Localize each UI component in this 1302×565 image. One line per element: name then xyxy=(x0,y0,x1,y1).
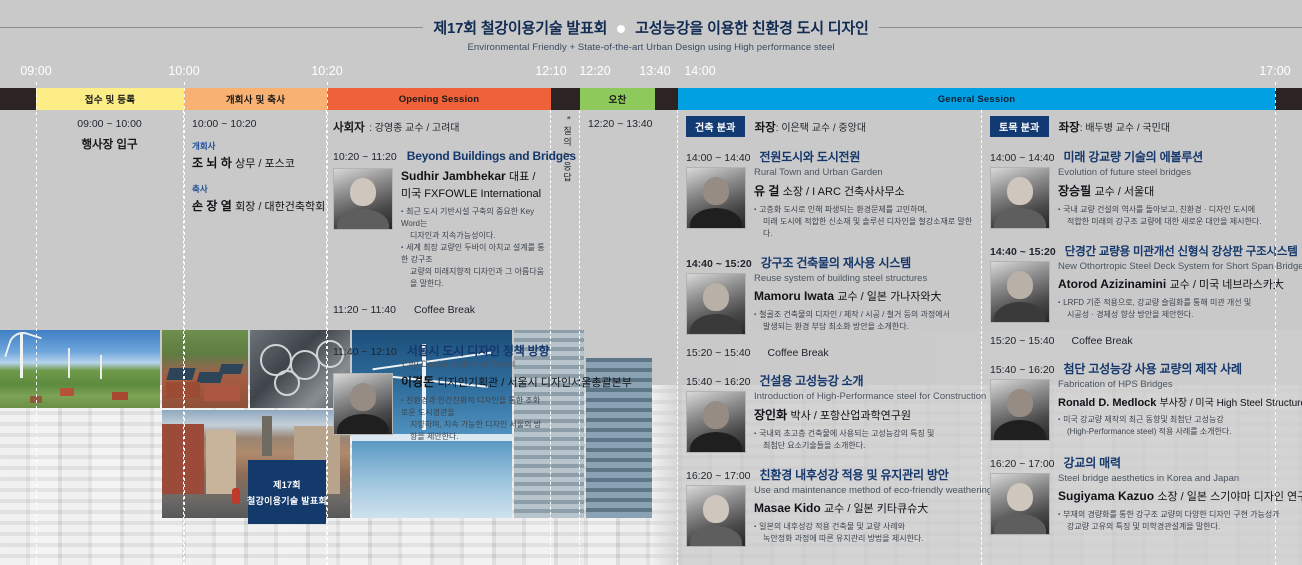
qa-vertical-note: * 질의 / 응답 xyxy=(561,116,574,184)
civil-talk-1-title: 단경간 교량용 미관개선 신형식 강상판 구조시스템 xyxy=(1065,243,1298,259)
speaker-name: Atorod Azizinamini xyxy=(1058,277,1166,291)
desc-line: 적합한 미래의 강구조 교량에 대한 새로운 대안을 제시한다. xyxy=(1067,217,1261,226)
arch-talk-3[interactable]: 15:40 ~ 16:20 건설용 고성능강 소개 Introduction o… xyxy=(686,372,975,453)
speaker-name: 장인화 xyxy=(754,408,787,422)
speaker-name: Ronald D. Medlock xyxy=(1058,397,1156,409)
arch-chair-row: 건축 분과 좌장: 이은택 교수 / 중앙대 xyxy=(686,116,975,137)
arch-talk-1[interactable]: 14:40 ~ 15:20 강구조 건축물의 재사용 시스템 Reuse sys… xyxy=(686,254,975,335)
time-ruler: 09:00 10:00 10:20 12:10 12:20 13:40 14:0… xyxy=(0,62,1302,86)
speaker-portrait xyxy=(686,485,746,547)
civil-talk-2-title: Coffee Break xyxy=(1072,335,1133,347)
civil-talk-1-speaker: Atorod Azizinamini 교수 / 미국 네브라스카大 xyxy=(1058,276,1298,292)
speaker-role: 교수 / 일본 가나자와大 xyxy=(837,291,941,303)
column-track-civil: 토목 분과 좌장: 배두병 교수 / 국민대 14:00 ~ 14:40 미래 … xyxy=(982,110,1302,565)
ceremony-time: 10:00 ~ 10:20 xyxy=(192,118,320,130)
speaker-name: 장승필 xyxy=(1058,184,1091,198)
ceremony-item-0: 개회사 조 뇌 하 상무 / 포스코 xyxy=(192,140,320,171)
speaker-portrait xyxy=(990,167,1050,229)
desc-line: 국내 교량 건설의 역사를 돌아보고, 친환경 · 디자인 도시에 xyxy=(1063,205,1255,214)
civil-talk-4-speaker: Sugiyama Kazuo 소장 / 일본 스기야마 디자인 연구소 xyxy=(1058,488,1298,504)
opening-talk-2-title-en: City Design policy of Seoul xyxy=(402,359,546,370)
arch-talk-1-title-en: Reuse system of building steel structure… xyxy=(754,273,975,284)
arch-talk-3-title: 건설용 고성능강 소개 xyxy=(760,372,864,389)
desc-line: 친환경과 인간친화적 디자인을 통한 조화로운 도시경관을 xyxy=(401,396,540,417)
opening-talk-1-break: 11:20 ~ 11:40 Coffee Break xyxy=(333,304,546,316)
ceremony-role-1: 회장 / 대한건축학회 xyxy=(235,201,325,213)
desc-line: 세계 최장 교량인 두바이 아치교 설계를 통한 강구조 xyxy=(401,243,545,264)
desc-line: 미국 강교량 제작의 최근 동향및 최첨단 고성능강 xyxy=(1063,415,1224,424)
speaker-role: 교수 / 미국 네브라스카大 xyxy=(1170,279,1284,291)
speaker-role: 소장 / 일본 스기야마 디자인 연구소 xyxy=(1157,491,1302,503)
opening-moderator-value: : 강영종 교수 / 고려대 xyxy=(369,123,459,134)
ceremony-role-0: 상무 / 포스코 xyxy=(235,158,295,170)
desc-line: 녹안정화 과정에 따른 유지관리 방법을 제시한다. xyxy=(763,534,924,543)
civil-talk-0-title-en: Evolution of future steel bridges xyxy=(1058,167,1298,178)
speaker-portrait xyxy=(990,379,1050,441)
arch-talk-3-title-en: Introduction of High-Performance steel f… xyxy=(754,391,975,402)
opening-talk-2-desc: 친환경과 인간친화적 디자인을 통한 조화로운 도시경관을 지향하며, 지속 가… xyxy=(401,395,546,443)
arch-talk-2-title: Coffee Break xyxy=(768,347,829,359)
time-tick-0900: 09:00 xyxy=(20,64,51,78)
opening-talk-0-desc: 최근 도시 기반시설 구축의 중요한 Key Word는 디자인과 지속가능성이… xyxy=(401,206,546,290)
speaker-name: Sugiyama Kazuo xyxy=(1058,489,1154,503)
civil-track-tag: 토목 분과 xyxy=(990,116,1049,137)
opening-talk-1-title: Coffee Break xyxy=(414,304,475,316)
column-qa: * 질의 / 응답 xyxy=(551,110,580,565)
title-rule-right xyxy=(879,27,1302,28)
opening-talk-2-title: 서울시 도시 디자인 정책 방향 xyxy=(407,342,550,359)
arch-talk-0[interactable]: 14:00 ~ 14:40 전원도시와 도시전원 Rural Town and … xyxy=(686,148,975,240)
civil-talk-4-title: 강교의 매력 xyxy=(1064,454,1121,471)
civil-talk-3[interactable]: 15:40 ~ 16:20 첨단 고성능강 사용 교량의 제작 사례 Fabri… xyxy=(990,360,1298,441)
time-tick-1700: 17:00 xyxy=(1259,64,1290,78)
civil-talk-3-title: 첨단 고성능강 사용 교량의 제작 사례 xyxy=(1064,360,1242,377)
gridline-1700 xyxy=(1275,82,1276,565)
desc-line: 최근 도시 기반시설 구축의 중요한 Key Word는 xyxy=(401,207,534,228)
page-subtitle: Environmental Friendly + State-of-the-ar… xyxy=(0,42,1302,53)
ceremony-speaker-1: 손 장 열 xyxy=(192,199,232,213)
speaker-name: Mamoru Iwata xyxy=(754,289,834,303)
title-second-text: 고성능강을 이용한 친환경 도시 디자인 xyxy=(635,20,868,37)
arch-talk-1-title: 강구조 건축물의 재사용 시스템 xyxy=(761,254,911,271)
opening-talk-2-time: 11:40 ~ 12:10 xyxy=(333,346,397,358)
speaker-name: 이경돈 xyxy=(401,375,434,389)
arch-talk-3-time: 15:40 ~ 16:20 xyxy=(686,376,751,388)
time-tick-1210: 12:10 xyxy=(535,64,566,78)
civil-talk-0-title: 미래 강교량 기술의 에볼루션 xyxy=(1064,148,1203,165)
ceremony-item-1-label: 축사 xyxy=(192,183,320,195)
session-bar-lunch[interactable]: 오찬 xyxy=(580,88,655,110)
civil-chair-label: 좌장 xyxy=(1059,122,1080,134)
gridline-1000 xyxy=(184,82,185,565)
session-bar-registration[interactable]: 접수 및 등록 xyxy=(36,88,184,110)
column-lunch: 12:20 ~ 13:40 xyxy=(580,110,678,565)
session-bar-ceremony[interactable]: 개회사 및 축사 xyxy=(184,88,327,110)
arch-talk-4-title-en: Use and maintenance method of eco-friend… xyxy=(754,485,975,496)
civil-talk-4-time: 16:20 ~ 17:00 xyxy=(990,458,1055,470)
registration-time: 09:00 ~ 10:00 xyxy=(42,118,177,130)
speaker-name: Sudhir Jambhekar xyxy=(401,169,506,183)
opening-talk-0-affiliation: 미국 FXFOWLE International xyxy=(401,185,546,201)
time-tick-1020: 10:20 xyxy=(311,64,342,78)
civil-talk-0-speaker: 장승필 교수 / 서울대 xyxy=(1058,182,1298,199)
column-opening-ceremony: 10:00 ~ 10:20 개회사 조 뇌 하 상무 / 포스코 축사 손 장 … xyxy=(184,110,327,565)
arch-talk-2-break: 15:20 ~ 15:40 Coffee Break xyxy=(686,347,975,359)
time-tick-1340: 13:40 xyxy=(639,64,670,78)
civil-talk-1[interactable]: 14:40 ~ 15:20 단경간 교량용 미관개선 신형식 강상판 구조시스템… xyxy=(990,243,1298,323)
column-track-architecture: 건축 분과 좌장: 이은택 교수 / 중앙대 14:00 ~ 14:40 전원도… xyxy=(678,110,982,565)
opening-talk-0-time: 10:20 ~ 11:20 xyxy=(333,151,397,163)
desc-line: 교량의 미래지향적 디자인과 그 아름다움을 말한다. xyxy=(410,267,544,288)
speaker-portrait xyxy=(990,261,1050,323)
ceremony-item-1: 축사 손 장 열 회장 / 대한건축학회 xyxy=(192,183,320,214)
civil-talk-2-break: 15:20 ~ 15:40 Coffee Break xyxy=(990,335,1298,347)
ceremony-item-1-name: 손 장 열 회장 / 대한건축학회 xyxy=(192,197,320,214)
civil-talk-0[interactable]: 14:00 ~ 14:40 미래 강교량 기술의 에볼루션 Evolution … xyxy=(990,148,1298,229)
page-title: 제17회 철강이용기술 발표회 고성능강을 이용한 친환경 도시 디자인 xyxy=(433,17,868,38)
speaker-portrait xyxy=(990,473,1050,535)
speaker-portrait xyxy=(333,168,393,230)
arch-talk-0-time: 14:00 ~ 14:40 xyxy=(686,152,751,164)
desc-line: 고층화 도시로 인해 파생되는 환경문제를 고민하며, xyxy=(759,205,927,214)
arch-talk-4-time: 16:20 ~ 17:00 xyxy=(686,470,751,482)
opening-talk-2-speaker: 이경돈 디자인기획관 / 서울시 디자인서울총괄본부 xyxy=(401,373,546,390)
arch-talk-3-speaker: 장인화 박사 / 포항산업과학연구원 xyxy=(754,406,975,423)
column-registration: 09:00 ~ 10:00 행사장 입구 xyxy=(36,110,184,565)
schedule-columns: 09:00 ~ 10:00 행사장 입구 10:00 ~ 10:20 개회사 조… xyxy=(0,110,1302,565)
civil-talk-2-time: 15:20 ~ 15:40 xyxy=(990,335,1055,347)
civil-talk-3-title-en: Fabrication of HPS Bridges xyxy=(1058,379,1298,390)
desc-line: 강교량 고유의 특징 및 미학경관설계을 말한다. xyxy=(1067,522,1220,531)
speaker-portrait xyxy=(686,273,746,335)
arch-chair-label: 좌장 xyxy=(755,122,776,134)
desc-line: 미래 도시에 적합한 신소재 및 솔루션 디자인을 철강소재로 말한다. xyxy=(763,217,972,238)
speaker-role: 대표 / xyxy=(509,171,535,183)
arch-talk-0-speaker: 유 걸 소장 / I ARC 건축사사무소 xyxy=(754,182,975,199)
arch-talk-4-title: 친환경 내후성강 적용 및 유지관리 방안 xyxy=(760,466,949,483)
column-opening-session: 사회자 : 강영종 교수 / 고려대 10:20 ~ 11:20 Beyond … xyxy=(327,110,551,565)
arch-talk-1-time: 14:40 ~ 15:20 xyxy=(686,258,752,270)
speaker-role: 박사 / 포항산업과학연구원 xyxy=(790,410,911,422)
lunch-time: 12:20 ~ 13:40 xyxy=(588,118,673,130)
title-main-text: 제17회 철강이용기술 발표회 xyxy=(433,20,607,37)
arch-talk-0-desc: 고층화 도시로 인해 파생되는 환경문제를 고민하며, 미래 도시에 적합한 신… xyxy=(754,204,975,240)
civil-talk-4[interactable]: 16:20 ~ 17:00 강교의 매력 Steel bridge aesthe… xyxy=(990,454,1298,535)
desc-line: 지향하며, 지속 가능한 디자인 서울의 방향을 제안한다. xyxy=(410,420,541,441)
desc-line: 디자인과 지속가능성이다. xyxy=(410,231,495,240)
arch-talk-4[interactable]: 16:20 ~ 17:00 친환경 내후성강 적용 및 유지관리 방안 Use … xyxy=(686,466,975,547)
poster-header: 제17회 철강이용기술 발표회 고성능강을 이용한 친환경 도시 디자인 Env… xyxy=(0,0,1302,60)
speaker-name: 유 걸 xyxy=(754,184,779,198)
opening-talk-1-time: 11:20 ~ 11:40 xyxy=(333,304,396,316)
civil-talk-3-time: 15:40 ~ 16:20 xyxy=(990,364,1055,376)
ceremony-item-0-name: 조 뇌 하 상무 / 포스코 xyxy=(192,154,320,171)
civil-talk-0-desc: 국내 교량 건설의 역사를 돌아보고, 친환경 · 디자인 도시에 적합한 미래… xyxy=(1058,204,1298,228)
arch-talk-0-title-en: Rural Town and Urban Garden xyxy=(754,167,975,178)
arch-talk-3-desc: 국내외 초고층 건축물에 사용되는 고성능강의 특징 및 최첨단 요소기술들을 … xyxy=(754,428,975,452)
desc-line: 최첨단 요소기술들을 소개한다. xyxy=(763,441,865,450)
opening-talk-0-speaker: Sudhir Jambhekar 대표 / xyxy=(401,168,546,184)
speaker-role: 교수 / 일본 키타큐슈大 xyxy=(824,503,928,515)
civil-talk-1-title-en: New Othortropic Steel Deck System for Sh… xyxy=(1058,261,1298,272)
session-bar-general[interactable]: General Session xyxy=(678,88,1275,110)
speaker-role: 부사장 / 미국 High Steel Structures, Inc. xyxy=(1159,398,1302,409)
time-tick-1220: 12:20 xyxy=(579,64,610,78)
speaker-role: 소장 / I ARC 건축사사무소 xyxy=(783,186,905,198)
speaker-portrait xyxy=(686,391,746,453)
desc-line: (High-Performance steel) 적용 사례를 소개한다. xyxy=(1067,427,1232,436)
desc-line: LRFD 기준 적용으로, 강교량 슬림화를 통해 미관 개선 및 xyxy=(1063,298,1251,307)
arch-talk-4-speaker: Masae Kido 교수 / 일본 키타큐슈大 xyxy=(754,500,975,516)
gridline-1020 xyxy=(327,82,328,565)
poster-root: 제17회 철강이용기술 발표회 제17회 철강이용기술 발표회 고성능강을 이용… xyxy=(0,0,1302,565)
arch-talk-0-title: 전원도시와 도시전원 xyxy=(760,148,861,165)
arch-chair-value: : 이은택 교수 / 중앙대 xyxy=(776,123,866,134)
ceremony-item-0-label: 개회사 xyxy=(192,140,320,152)
arch-talk-4-desc: 일본의 내후성강 적용 건축물 및 교량 사례와 녹안정화 과정에 따른 유지관… xyxy=(754,521,975,545)
civil-talk-3-speaker: Ronald D. Medlock 부사장 / 미국 High Steel St… xyxy=(1058,394,1298,409)
arch-track-tag: 건축 분과 xyxy=(686,116,745,137)
civil-talk-4-title-en: Steel bridge aesthetics in Korea and Jap… xyxy=(1058,473,1298,484)
gridline-0900 xyxy=(36,82,37,565)
title-rule-left xyxy=(0,27,423,28)
time-tick-1000: 10:00 xyxy=(168,64,199,78)
civil-talk-1-desc: LRFD 기준 적용으로, 강교량 슬림화를 통해 미관 개선 및 시공성 · … xyxy=(1058,297,1298,321)
registration-place: 행사장 입구 xyxy=(42,136,177,152)
desc-line: 시공성 · 경제성 향상 방안을 제안한다. xyxy=(1067,310,1193,319)
civil-chair-value: : 배두병 교수 / 국민대 xyxy=(1080,123,1170,134)
desc-line: 국내외 초고층 건축물에 사용되는 고성능강의 특징 및 xyxy=(759,429,934,438)
speaker-portrait xyxy=(333,373,393,435)
title-separator-dot xyxy=(617,25,625,33)
civil-talk-4-desc: 부재의 경량화를 통한 강구조 교량의 다양한 디자인 구현 가능성과 강교량 … xyxy=(1058,509,1298,533)
civil-talk-3-desc: 미국 강교량 제작의 최근 동향및 최첨단 고성능강 (High-Perform… xyxy=(1058,414,1298,438)
opening-moderator-row: 사회자 : 강영종 교수 / 고려대 xyxy=(333,118,546,136)
time-tick-1400: 14:00 xyxy=(684,64,715,78)
opening-moderator-label: 사회자 xyxy=(333,122,365,134)
desc-line: 발생되는 환경 부담 최소화 방안을 소개한다. xyxy=(763,322,909,331)
ceremony-speaker-0: 조 뇌 하 xyxy=(192,156,232,170)
opening-talk-2[interactable]: 11:40 ~ 12:10 서울시 도시 디자인 정책 방향 City Desi… xyxy=(333,342,546,443)
civil-talk-0-time: 14:00 ~ 14:40 xyxy=(990,152,1055,164)
title-row: 제17회 철강이용기술 발표회 고성능강을 이용한 친환경 도시 디자인 xyxy=(0,17,1302,38)
desc-line: 철골조 건축물의 디자인 / 제작 / 시공 / 철거 등의 과정에서 xyxy=(759,310,950,319)
desc-line: 부재의 경량화를 통한 강구조 교량의 다양한 디자인 구현 가능성과 xyxy=(1063,510,1280,519)
civil-chair-row: 토목 분과 좌장: 배두병 교수 / 국민대 xyxy=(990,116,1298,137)
civil-talk-1-time: 14:40 ~ 15:20 xyxy=(990,246,1056,258)
arch-talk-2-time: 15:20 ~ 15:40 xyxy=(686,347,751,359)
desc-line: 일본의 내후성강 적용 건축물 및 교량 사례와 xyxy=(759,522,905,531)
speaker-role: 교수 / 서울대 xyxy=(1094,186,1154,198)
session-bar-opening[interactable]: Opening Session xyxy=(327,88,551,110)
speaker-name: Masae Kido xyxy=(754,501,821,515)
arch-talk-1-desc: 철골조 건축물의 디자인 / 제작 / 시공 / 철거 등의 과정에서 발생되는… xyxy=(754,309,975,333)
session-color-band: 접수 및 등록 개회사 및 축사 Opening Session 오찬 Gene… xyxy=(0,88,1302,110)
arch-talk-1-speaker: Mamoru Iwata 교수 / 일본 가나자와大 xyxy=(754,288,975,304)
opening-talk-0[interactable]: 10:20 ~ 11:20 Beyond Buildings and Bridg… xyxy=(333,149,546,290)
speaker-portrait xyxy=(686,167,746,229)
